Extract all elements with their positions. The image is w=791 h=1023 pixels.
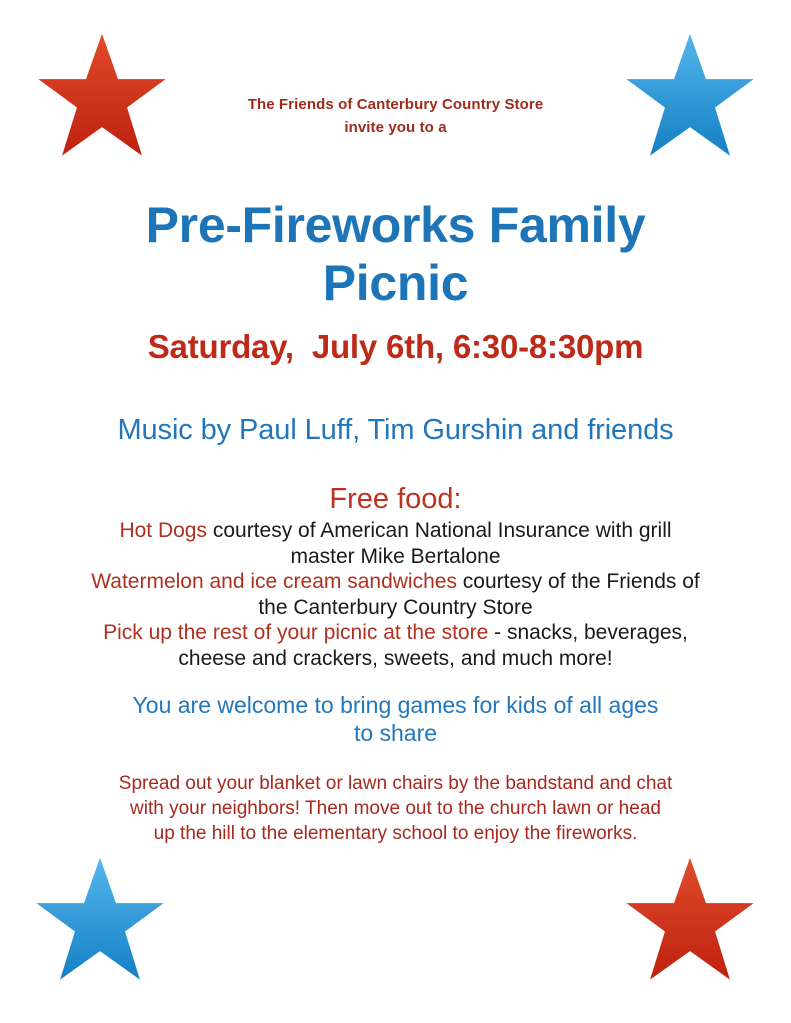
food-item-1-line-1: Hot Dogs courtesy of American National I… bbox=[0, 518, 791, 544]
title-line-2: Picnic bbox=[0, 254, 791, 312]
food-item-3-line-2: cheese and crackers, sweets, and much mo… bbox=[0, 646, 791, 672]
food-item-3-highlight: Pick up the rest of your picnic at the s… bbox=[103, 621, 488, 644]
closing-note: Spread out your blanket or lawn chairs b… bbox=[0, 771, 791, 846]
music-credit: Music by Paul Luff, Tim Gurshin and frie… bbox=[0, 414, 791, 447]
red-star-icon bbox=[622, 855, 758, 985]
games-line-1: You are welcome to bring games for kids … bbox=[0, 691, 791, 719]
event-datetime: Saturday, July 6th, 6:30-8:30pm bbox=[0, 328, 791, 366]
food-item-1-line-2: master Mike Bertalone bbox=[0, 544, 791, 570]
food-details: Hot Dogs courtesy of American National I… bbox=[0, 518, 791, 671]
invitation-header: The Friends of Canterbury Country Store … bbox=[0, 93, 791, 139]
food-item-2-rest: courtesy of the Friends of bbox=[457, 570, 700, 593]
games-line-2: to share bbox=[0, 719, 791, 747]
food-item-2-line-1: Watermelon and ice cream sandwiches cour… bbox=[0, 569, 791, 595]
food-item-3-rest: - snacks, beverages, bbox=[488, 621, 688, 644]
food-item-1-rest: courtesy of American National Insurance … bbox=[207, 519, 672, 542]
title-line-1: Pre-Fireworks Family bbox=[0, 196, 791, 254]
invitation-line-1: The Friends of Canterbury Country Store bbox=[0, 93, 791, 116]
page-title: Pre-Fireworks Family Picnic bbox=[0, 196, 791, 312]
closing-line-1: Spread out your blanket or lawn chairs b… bbox=[0, 771, 791, 796]
closing-line-2: with your neighbors! Then move out to th… bbox=[0, 796, 791, 821]
food-item-2-highlight: Watermelon and ice cream sandwiches bbox=[91, 570, 457, 593]
poster-canvas: The Friends of Canterbury Country Store … bbox=[0, 0, 791, 1023]
games-note: You are welcome to bring games for kids … bbox=[0, 691, 791, 747]
food-item-2-line-2: the Canterbury Country Store bbox=[0, 595, 791, 621]
free-food-heading: Free food: bbox=[0, 483, 791, 516]
closing-line-3: up the hill to the elementary school to … bbox=[0, 821, 791, 846]
invitation-line-2: invite you to a bbox=[0, 116, 791, 139]
blue-star-icon bbox=[32, 855, 168, 985]
food-item-3-line-1: Pick up the rest of your picnic at the s… bbox=[0, 620, 791, 646]
food-item-1-highlight: Hot Dogs bbox=[119, 519, 207, 542]
